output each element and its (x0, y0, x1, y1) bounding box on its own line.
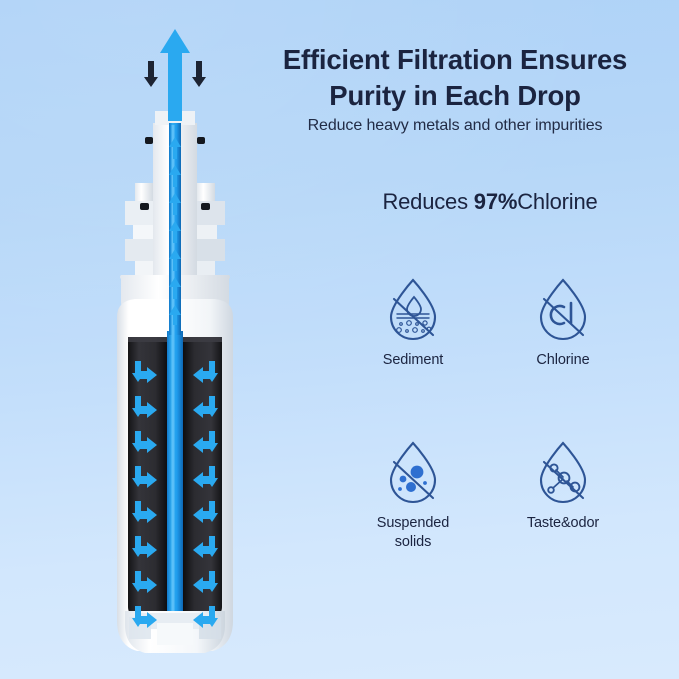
infographic-canvas: Efficient Filtration Ensures Purity in E… (0, 0, 679, 679)
page-subtitle: Reduce heavy metals and other impurities (248, 117, 662, 135)
feature-chlorine-label: Chlorine (488, 351, 638, 370)
claim-suffix: Chlorine (517, 189, 597, 214)
feature-chlorine: Chlorine (488, 276, 638, 370)
outlet-flow-arrow-icon (160, 29, 190, 121)
feature-suspended-solids: Suspended solids (338, 439, 488, 552)
contaminant-feature-grid: Sediment Chlorine (338, 276, 638, 566)
feature-sediment-label: Sediment (338, 351, 488, 370)
droplet-sediment-icon (383, 276, 443, 342)
claim-percent: 97% (474, 189, 517, 214)
droplet-chlorine-icon (533, 276, 593, 342)
page-title-line1: Efficient Filtration Ensures (283, 44, 627, 75)
feature-taste-odor-label: Taste&odor (488, 514, 638, 533)
feature-suspended-solids-label-line2: solids (395, 534, 431, 550)
page-title-line2: Purity in Each Drop (248, 78, 662, 113)
claim-prefix: Reduces (382, 189, 473, 214)
feature-suspended-solids-label-line1: Suspended (377, 515, 449, 531)
water-filter-cartridge-cutaway (95, 25, 255, 665)
droplet-suspended-solids-icon (383, 439, 443, 505)
feature-sediment: Sediment (338, 276, 488, 370)
chlorine-reduction-claim: Reduces 97%Chlorine (330, 189, 650, 215)
page-title: Efficient Filtration Ensures Purity in E… (248, 42, 662, 112)
feature-suspended-solids-label: Suspended solids (338, 514, 488, 552)
feature-taste-odor: Taste&odor (488, 439, 638, 533)
droplet-taste-odor-icon (533, 439, 593, 505)
